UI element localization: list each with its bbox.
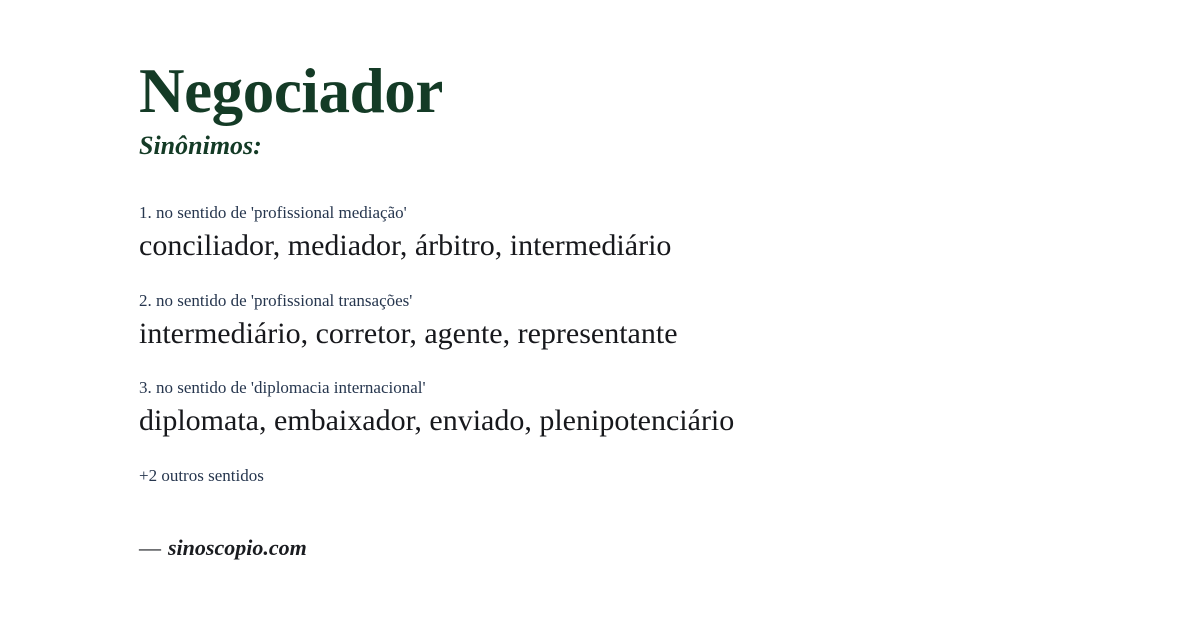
sense-synonyms: conciliador, mediador, árbitro, intermed… [139, 228, 1140, 265]
more-senses-note: +2 outros sentidos [139, 465, 1140, 487]
sense-list: 1. no sentido de 'profissional mediação'… [139, 202, 1140, 440]
attribution: —sinoscopio.com [139, 535, 1140, 561]
sense-item: 1. no sentido de 'profissional mediação'… [139, 202, 1140, 265]
em-dash: — [139, 535, 168, 560]
sense-item: 2. no sentido de 'profissional transaçõe… [139, 290, 1140, 353]
sense-synonyms: intermediário, corretor, agente, represe… [139, 316, 1140, 353]
sense-synonyms: diplomata, embaixador, enviado, plenipot… [139, 403, 1140, 440]
sense-label: 3. no sentido de 'diplomacia internacion… [139, 377, 1140, 399]
sense-item: 3. no sentido de 'diplomacia internacion… [139, 377, 1140, 440]
attribution-source: sinoscopio.com [168, 535, 307, 560]
section-subtitle-synonyms: Sinônimos: [139, 131, 1140, 160]
sense-label: 1. no sentido de 'profissional mediação' [139, 202, 1140, 224]
sense-label: 2. no sentido de 'profissional transaçõe… [139, 290, 1140, 312]
thesaurus-entry-card: Negociador Sinônimos: 1. no sentido de '… [0, 0, 1200, 628]
page-title: Negociador [139, 58, 1140, 125]
